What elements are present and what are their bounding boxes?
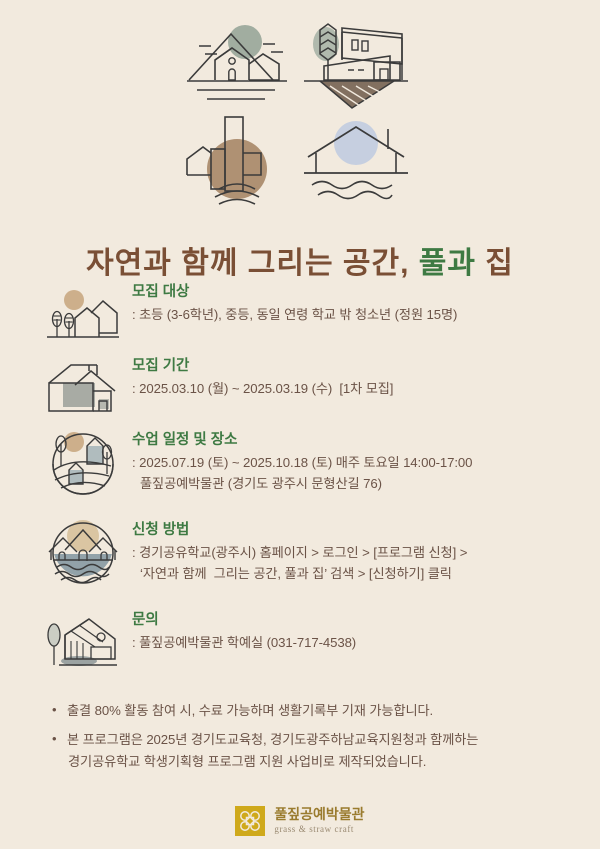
info-heading: 모집 대상 [132, 284, 457, 301]
info-text-line-1: : 풀짚공예박물관 학예실 (031-717-4538) [132, 635, 356, 650]
title-part-3: 집 [476, 247, 514, 280]
info-row-period: 모집 기간 : 2025.03.10 (월) ~ 2025.03.19 (수) … [0, 357, 600, 419]
house-with-trees-icon [44, 283, 122, 345]
title-part-grass: 풀과 [419, 247, 476, 280]
museum-logo-mark-icon [235, 806, 265, 836]
info-text-line-1: : 경기공유학교(광주시) 홈페이지 > 로그인 > [프로그램 신청] > [132, 545, 467, 560]
info-row-apply: 신청 방법 : 경기공유학교(광주시) 홈페이지 > 로그인 > [프로그램 신… [0, 521, 600, 599]
info-text-line-1: : 2025.07.19 (토) ~ 2025.10.18 (토) 매주 토요일… [132, 455, 472, 470]
two-roof-house-icon [44, 357, 122, 419]
info-text: : 풀짚공예박물관 학예실 (031-717-4538) [132, 633, 356, 653]
house-water-sun-illustration [302, 113, 417, 208]
info-heading: 모집 기간 [132, 358, 393, 375]
wheat-modern-house-illustration [302, 18, 417, 113]
museum-building-icon [44, 611, 122, 673]
note-line-2: 경기공유학교 학생기획형 프로그램 지원 사업비로 제작되었습니다. [67, 751, 478, 773]
note-text: 출결 80% 활동 참여 시, 수료 가능하며 생활기록부 기재 가능합니다. [67, 700, 433, 722]
info-text-line-1: : 초등 (3-6학년), 중등, 동일 연령 학교 밖 청소년 (정원 15명… [132, 307, 457, 322]
page-title: 자연과 함께 그리는 공간, 풀과 집 [0, 238, 600, 282]
info-heading: 신청 방법 [132, 522, 467, 539]
title-part-1: 자연과 함께 그리는 공간, [86, 247, 419, 280]
info-heading: 수업 일정 및 장소 [132, 432, 472, 449]
houses-on-water-icon [44, 521, 122, 583]
info-text: : 초등 (3-6학년), 중등, 동일 연령 학교 밖 청소년 (정원 15명… [132, 305, 457, 325]
note-item: • 출결 80% 활동 참여 시, 수료 가능하며 생활기록부 기재 가능합니다… [52, 700, 572, 722]
notes-list: • 출결 80% 활동 참여 시, 수료 가능하며 생활기록부 기재 가능합니다… [52, 700, 572, 779]
info-row-schedule: 수업 일정 및 장소 : 2025.07.19 (토) ~ 2025.10.18… [0, 431, 600, 509]
info-row-contact: 문의 : 풀짚공예박물관 학예실 (031-717-4538) [0, 611, 600, 673]
footer-text-group: 풀짚공예박물관 grass & straw craft [274, 807, 364, 834]
info-text-line-1: : 2025.03.10 (월) ~ 2025.03.19 (수) [1차 모집… [132, 381, 393, 396]
info-text-line-2: 풀짚공예박물관 (경기도 광주시 문형산길 76) [132, 474, 472, 494]
info-text: : 2025.03.10 (월) ~ 2025.03.19 (수) [1차 모집… [132, 379, 393, 399]
hero-illustrations [0, 18, 600, 208]
poster-root: 자연과 함께 그리는 공간, 풀과 집 [0, 0, 600, 849]
city-field-circle-illustration [183, 113, 298, 208]
note-line-1: 출결 80% 활동 참여 시, 수료 가능하며 생활기록부 기재 가능합니다. [67, 703, 433, 718]
village-hill-circle-icon [44, 431, 122, 493]
info-sections: 모집 대상 : 초등 (3-6학년), 중등, 동일 연령 학교 밖 청소년 (… [0, 283, 600, 685]
info-heading: 문의 [132, 612, 356, 629]
footer-tagline: grass & straw craft [274, 825, 364, 834]
footer-branding: 풀짚공예박물관 grass & straw craft [0, 806, 600, 836]
info-row-target: 모집 대상 : 초등 (3-6학년), 중등, 동일 연령 학교 밖 청소년 (… [0, 283, 600, 345]
info-text-line-2: ‘자연과 함께 그리는 공간, 풀과 집’ 검색 > [신청하기] 클릭 [132, 564, 467, 584]
note-line-1: 본 프로그램은 2025년 경기도교육청, 경기도광주하남교육지원청과 함께하는 [67, 732, 478, 747]
bullet-icon: • [52, 700, 67, 721]
info-text: : 2025.07.19 (토) ~ 2025.10.18 (토) 매주 토요일… [132, 453, 472, 494]
note-item: • 본 프로그램은 2025년 경기도교육청, 경기도광주하남교육지원청과 함께… [52, 729, 572, 773]
mountain-house-illustration [183, 18, 298, 113]
footer-museum-name: 풀짚공예박물관 [274, 807, 364, 822]
note-text: 본 프로그램은 2025년 경기도교육청, 경기도광주하남교육지원청과 함께하는… [67, 729, 478, 773]
info-text: : 경기공유학교(광주시) 홈페이지 > 로그인 > [프로그램 신청] >‘자… [132, 543, 467, 584]
bullet-icon: • [52, 729, 67, 750]
